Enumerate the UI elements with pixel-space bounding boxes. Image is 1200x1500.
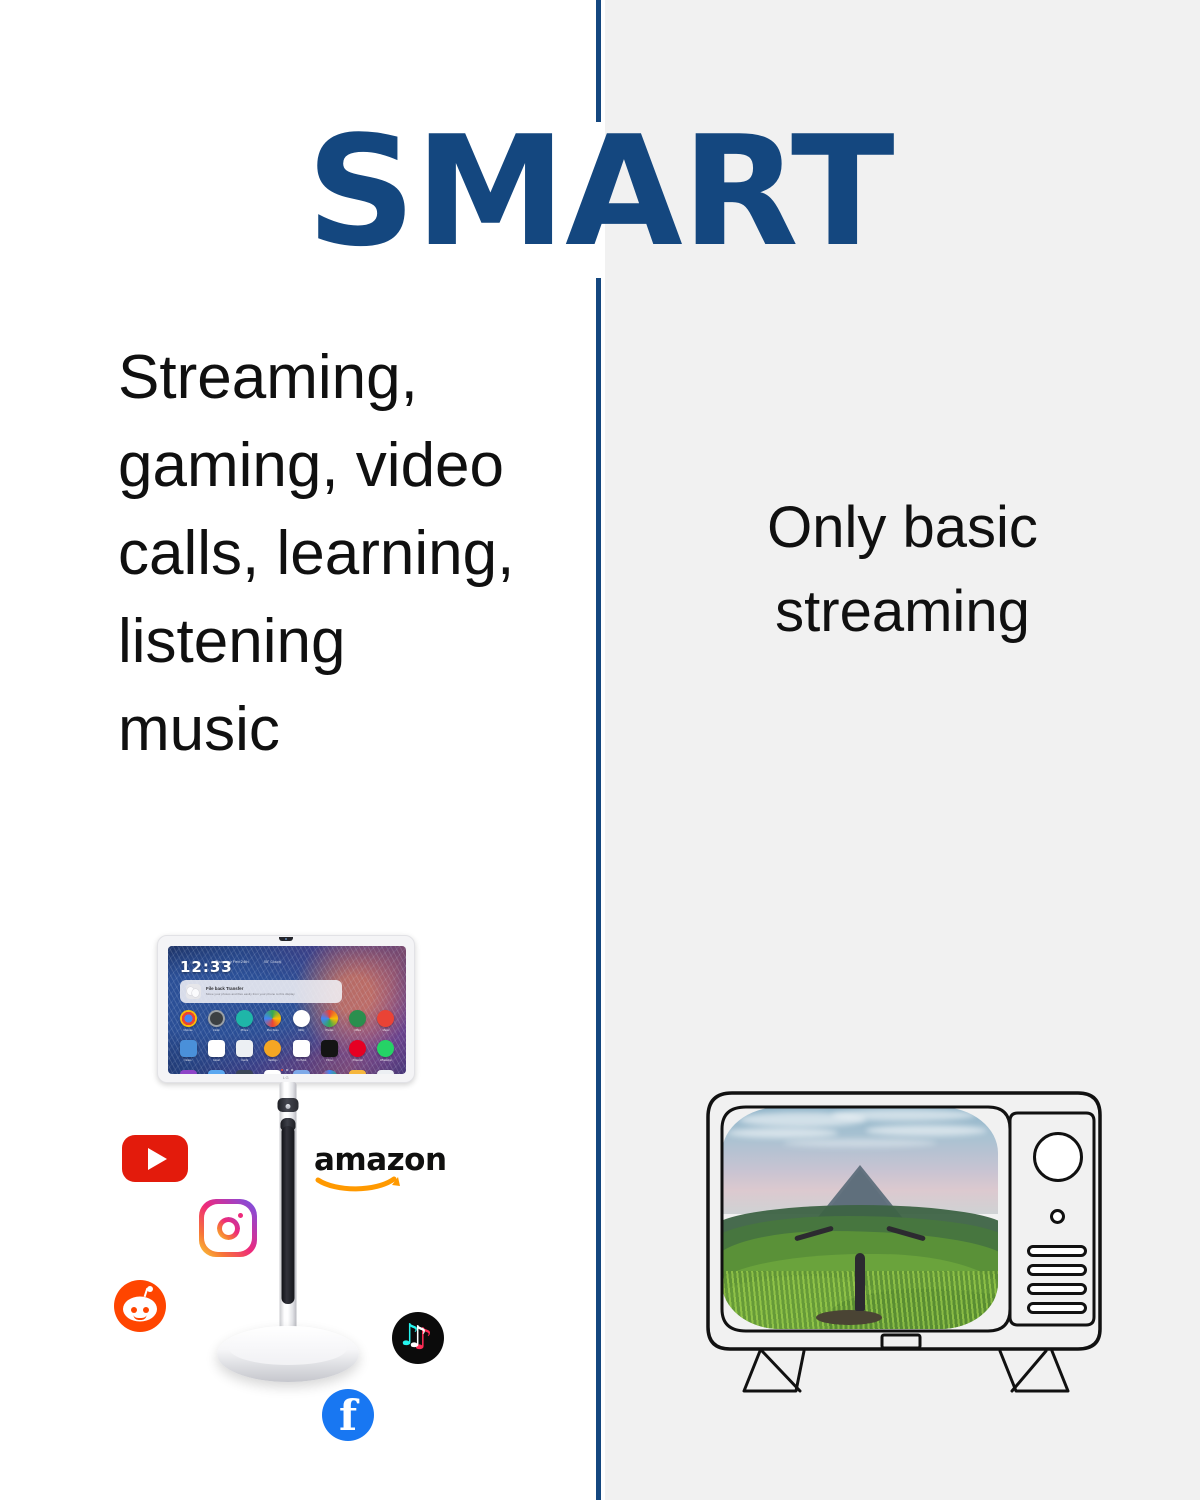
app-grid: Chrome Clock Phone Play Store Utility Ph… <box>179 1010 395 1074</box>
app-icon-store[interactable]: Store <box>349 1070 367 1074</box>
left-headline: Streaming, gaming, video calls, learning… <box>118 334 518 774</box>
right-headline: Only basic streaming <box>640 486 1165 654</box>
tv-speaker-slot <box>1027 1283 1087 1295</box>
amazon-wordmark: amazon <box>314 1145 410 1176</box>
weather-secondary: 58° Cloudy <box>264 960 304 965</box>
app-icon-youtube[interactable]: YouTube <box>292 1040 310 1062</box>
webcam-icon <box>279 937 293 941</box>
weather-primary: Thursday Feb 24th <box>215 959 249 964</box>
tv-tuning-dial[interactable] <box>1033 1132 1083 1182</box>
app-icon-chrome[interactable]: Chrome <box>179 1010 197 1032</box>
app-row: Chrome Clock Phone Play Store Utility Ph… <box>179 1010 395 1032</box>
stand-base <box>217 1326 359 1382</box>
tv-speaker-slot <box>1027 1264 1087 1276</box>
page-indicator[interactable] <box>281 1069 293 1071</box>
file-transfer-widget[interactable]: File back Transfer Move your photos and … <box>180 980 342 1003</box>
amazon-smile-icon <box>314 1176 410 1192</box>
stand-power-button[interactable] <box>285 1104 290 1109</box>
device-brandmark: LG <box>283 1075 289 1080</box>
app-icon-utility[interactable]: Utility <box>292 1010 310 1032</box>
app-icon-gallery[interactable]: Gallery <box>179 1070 197 1074</box>
display-screen: 12:33 Thursday Feb 24th 58° Cloudy File … <box>168 946 406 1074</box>
app-icon-browser[interactable]: Browser <box>377 1070 395 1074</box>
app-icon-gmail[interactable]: Gmail <box>207 1040 225 1062</box>
app-icon-search[interactable]: Search <box>320 1070 338 1074</box>
app-icon-tv[interactable]: TV <box>236 1070 254 1074</box>
tv-speaker-slot <box>1027 1245 1087 1257</box>
reddit-icon[interactable] <box>114 1280 166 1332</box>
display-bezel: 12:33 Thursday Feb 24th 58° Cloudy File … <box>157 935 415 1083</box>
comparison-poster: SMART Streaming, gaming, video calls, le… <box>0 0 1200 1500</box>
tiktok-icon[interactable]: ♪ ♪ ♪ <box>392 1312 444 1364</box>
tv-speaker-slot <box>1027 1302 1087 1314</box>
tv-indicator-button[interactable] <box>1050 1209 1065 1224</box>
app-icon-pinterest[interactable]: Pinterest <box>349 1040 367 1062</box>
app-icon-cards[interactable]: Cards <box>236 1040 254 1062</box>
app-icon-settings[interactable]: Settings <box>264 1040 282 1062</box>
app-icon-phone[interactable]: Phone <box>236 1010 254 1032</box>
widget-title: File back Transfer <box>206 986 336 991</box>
app-icon-office[interactable]: Office <box>349 1010 367 1032</box>
app-icon-music[interactable]: Music <box>377 1010 395 1032</box>
facebook-icon[interactable]: f <box>322 1389 374 1441</box>
retro-tv-device <box>700 1085 1110 1405</box>
instagram-icon[interactable] <box>199 1199 257 1257</box>
page-title: SMART <box>0 116 1200 268</box>
file-transfer-icon <box>186 984 201 999</box>
app-icon-whatsapp[interactable]: WhatsApp <box>377 1040 395 1062</box>
app-icon-share[interactable]: Share <box>292 1070 310 1074</box>
divider-line-bottom <box>596 278 601 1500</box>
app-icon-notes[interactable]: Notes <box>179 1040 197 1062</box>
youtube-icon[interactable] <box>122 1135 188 1182</box>
app-icon-prime[interactable]: Prime <box>320 1040 338 1062</box>
app-icon-assistant[interactable]: Assistant <box>264 1070 282 1074</box>
stand-dark-strip <box>281 1126 294 1304</box>
app-icon-clock[interactable]: Clock <box>207 1010 225 1032</box>
amazon-icon[interactable]: amazon <box>314 1145 410 1189</box>
widget-subtitle: Move your photos and files easily from y… <box>206 992 336 997</box>
app-row: Notes Gmail Cards Settings YouTube Prime… <box>179 1040 395 1062</box>
app-icon-play-store[interactable]: Play Store <box>264 1010 282 1032</box>
app-icon-files[interactable]: Files <box>207 1070 225 1074</box>
app-icon-photos[interactable]: Photos <box>320 1010 338 1032</box>
